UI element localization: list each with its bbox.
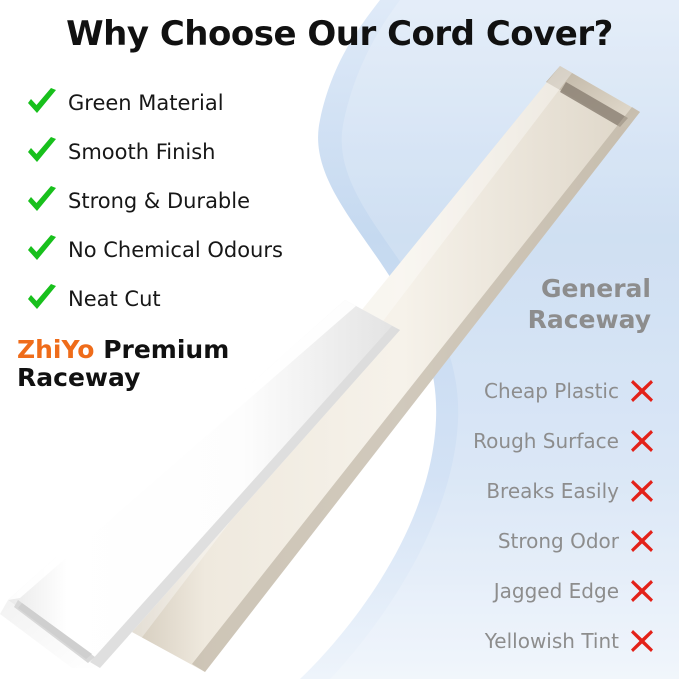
brand-block: ZhiYo Premium Raceway <box>17 336 317 392</box>
feature-label: Neat Cut <box>68 287 161 311</box>
list-item: No Chemical Odours <box>24 225 354 274</box>
red-cross-icon <box>629 629 655 653</box>
drawback-label: Rough Surface <box>473 429 619 453</box>
drawback-label: Breaks Easily <box>486 479 619 503</box>
list-item: Cheap Plastic <box>355 366 655 416</box>
list-item: Rough Surface <box>355 416 655 466</box>
page-title: Why Choose Our Cord Cover? <box>0 14 679 54</box>
feature-label: Smooth Finish <box>68 140 215 164</box>
feature-label: Strong & Durable <box>68 189 250 213</box>
list-item: Smooth Finish <box>24 127 354 176</box>
brand-line-1-rest: Premium <box>94 335 229 364</box>
list-item: Jagged Edge <box>355 566 655 616</box>
brand-name: ZhiYo <box>17 335 94 364</box>
drawback-label: Cheap Plastic <box>484 379 619 403</box>
list-item: Breaks Easily <box>355 466 655 516</box>
green-check-icon <box>24 137 60 167</box>
list-item: Neat Cut <box>24 274 354 323</box>
red-cross-icon <box>629 579 655 603</box>
product-comparison-infographic: Why Choose Our Cord Cover? Green Materia… <box>0 0 679 679</box>
drawback-label: Strong Odor <box>498 529 619 553</box>
red-cross-icon <box>629 379 655 403</box>
brand-line-1: ZhiYo Premium <box>17 336 317 364</box>
general-heading-line-1: General <box>351 274 651 305</box>
feature-label: Green Material <box>68 91 224 115</box>
drawback-list: Cheap Plastic Rough Surface Breaks Easil… <box>355 366 655 666</box>
green-check-icon <box>24 235 60 265</box>
general-raceway-heading: General Raceway <box>351 274 651 335</box>
feature-list: Green Material Smooth Finish Strong & Du… <box>24 78 354 323</box>
green-check-icon <box>24 284 60 314</box>
red-cross-icon <box>629 479 655 503</box>
general-heading-line-2: Raceway <box>351 305 651 336</box>
list-item: Green Material <box>24 78 354 127</box>
list-item: Strong & Durable <box>24 176 354 225</box>
list-item: Yellowish Tint <box>355 616 655 666</box>
brand-line-2: Raceway <box>17 364 317 392</box>
red-cross-icon <box>629 429 655 453</box>
red-cross-icon <box>629 529 655 553</box>
green-check-icon <box>24 186 60 216</box>
list-item: Strong Odor <box>355 516 655 566</box>
green-check-icon <box>24 88 60 118</box>
drawback-label: Jagged Edge <box>494 579 619 603</box>
feature-label: No Chemical Odours <box>68 238 283 262</box>
drawback-label: Yellowish Tint <box>485 629 619 653</box>
